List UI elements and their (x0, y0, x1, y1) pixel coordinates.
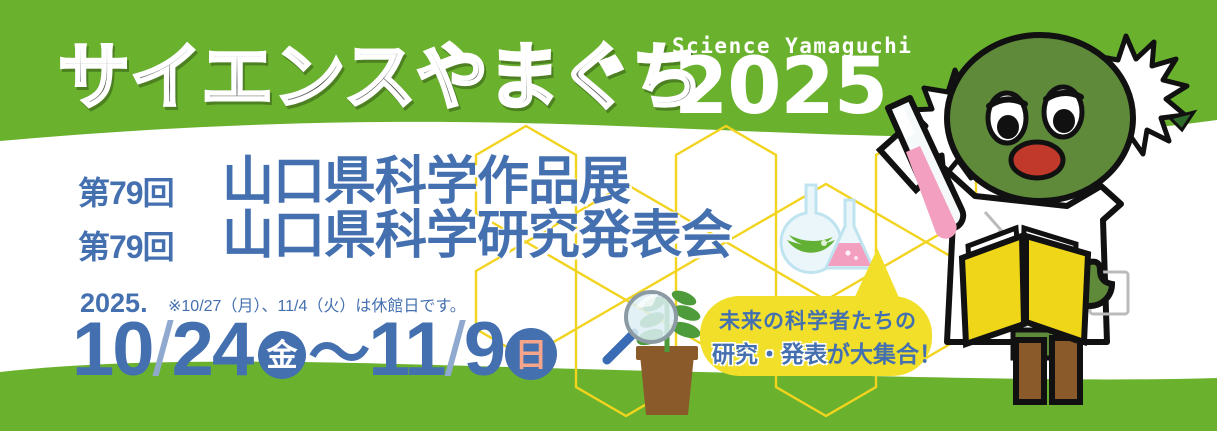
event-2-ordinal: 第79回 (78, 222, 174, 268)
end-day: 9 (464, 307, 504, 392)
end-weekday-badge: 日 (505, 328, 557, 380)
bubble-line-2-emphasis: 研究・発表 (712, 341, 827, 367)
date-separator-1: / (153, 307, 172, 392)
poster-banner: サイエンスやまぐち Science Yamaguchi 2025 第79回 山口… (0, 0, 1217, 431)
event-2-title: 山口県科学研究発表会 (222, 210, 732, 262)
date-separator-2: / (445, 307, 464, 392)
start-day: 24 (172, 307, 253, 392)
bubble-line-2-rest: が大集合！ (827, 341, 942, 367)
range-mark: 〜 (308, 320, 368, 389)
start-month: 10 (72, 307, 153, 392)
event-1-ordinal: 第79回 (78, 168, 174, 214)
event-1-title: 山口県科学作品展 (222, 156, 630, 208)
start-weekday-badge: 金 (258, 331, 306, 379)
main-title: サイエンスやまぐち (58, 42, 704, 114)
bubble-line-2: 研究・発表が大集合！ (712, 335, 924, 369)
year-2025: 2025 (674, 48, 887, 126)
end-month: 11 (368, 307, 444, 392)
bubble-line-1: 未来の科学者たちの (718, 305, 918, 335)
